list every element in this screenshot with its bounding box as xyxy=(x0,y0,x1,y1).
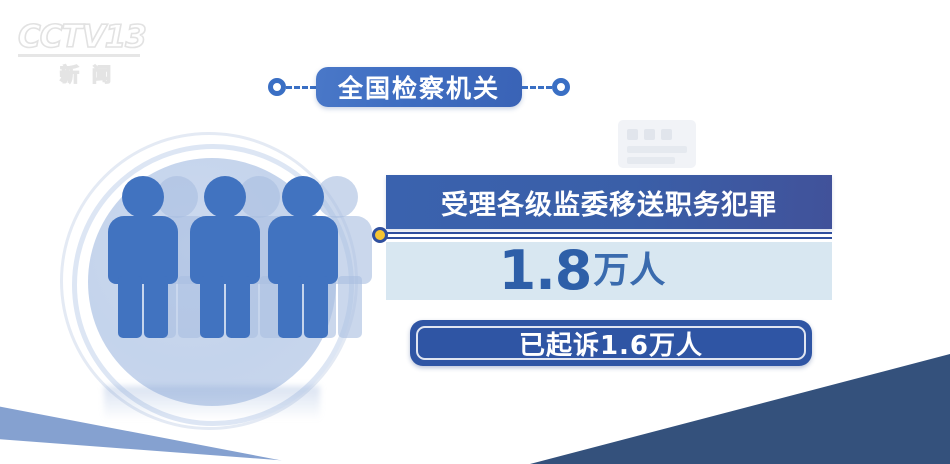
callout-button-inner-border: 已起诉1.6万人 xyxy=(416,326,806,360)
person-leg-left xyxy=(118,276,142,338)
section-title-text: 全国检察机关 xyxy=(338,69,500,105)
person-head xyxy=(122,176,164,218)
person-leg-right xyxy=(304,276,328,338)
ghost-bar xyxy=(627,157,675,164)
people-illustration xyxy=(56,128,366,428)
statistic-value: 1.8 xyxy=(499,244,592,298)
people-reflection xyxy=(104,386,320,420)
headline-text: 受理各级监委移送职务犯罪 xyxy=(441,183,777,222)
statistic-panel: 1.8 万人 xyxy=(386,242,832,300)
section-title-row: 全国检察机关 xyxy=(268,66,570,108)
person-icon xyxy=(190,176,260,336)
person-head xyxy=(204,176,246,218)
corner-wedge-bottom-right xyxy=(530,354,950,464)
connector-node-right-icon xyxy=(552,78,570,96)
divider-line-upper xyxy=(386,232,832,234)
infographic-canvas: CCTV13 新闻 xyxy=(0,0,950,464)
ghost-bar xyxy=(627,146,687,153)
person-torso xyxy=(190,216,260,284)
person-leg-right xyxy=(338,276,362,338)
divider-marker-dot-icon xyxy=(372,227,388,243)
person-torso xyxy=(108,216,178,284)
connector-node-left-icon xyxy=(268,78,286,96)
cctv-logo-subtitle: 新闻 xyxy=(18,60,158,87)
callout-button[interactable]: 已起诉1.6万人 xyxy=(410,320,812,366)
divider-line-lower xyxy=(386,237,832,239)
ghost-block xyxy=(644,129,655,140)
section-title-pill: 全国检察机关 xyxy=(316,67,522,107)
decorative-document-card xyxy=(618,120,696,168)
people-group-icon xyxy=(56,128,366,428)
person-head xyxy=(282,176,324,218)
person-leg-left xyxy=(200,276,224,338)
ghost-block xyxy=(661,129,672,140)
stat-panel-group: 受理各级监委移送职务犯罪 1.8 万人 已起诉1.6万人 xyxy=(386,175,832,366)
statistic-unit: 万人 xyxy=(593,253,665,289)
headline-divider xyxy=(386,232,832,240)
cctv-logo-text: CCTV13 xyxy=(18,22,158,53)
person-leg-left xyxy=(278,276,302,338)
headline-bar: 受理各级监委移送职务犯罪 xyxy=(386,175,832,229)
person-leg-right xyxy=(144,276,168,338)
ghost-card-blocks xyxy=(627,129,672,140)
person-icon xyxy=(268,176,338,336)
cctv13-logo: CCTV13 新闻 xyxy=(18,22,158,78)
ghost-block xyxy=(627,129,638,140)
connector-dash-right xyxy=(522,86,552,89)
connector-dash-left xyxy=(286,86,316,89)
person-leg-right xyxy=(226,276,250,338)
person-icon xyxy=(108,176,178,336)
person-torso xyxy=(268,216,338,284)
callout-text: 已起诉1.6万人 xyxy=(519,325,703,362)
